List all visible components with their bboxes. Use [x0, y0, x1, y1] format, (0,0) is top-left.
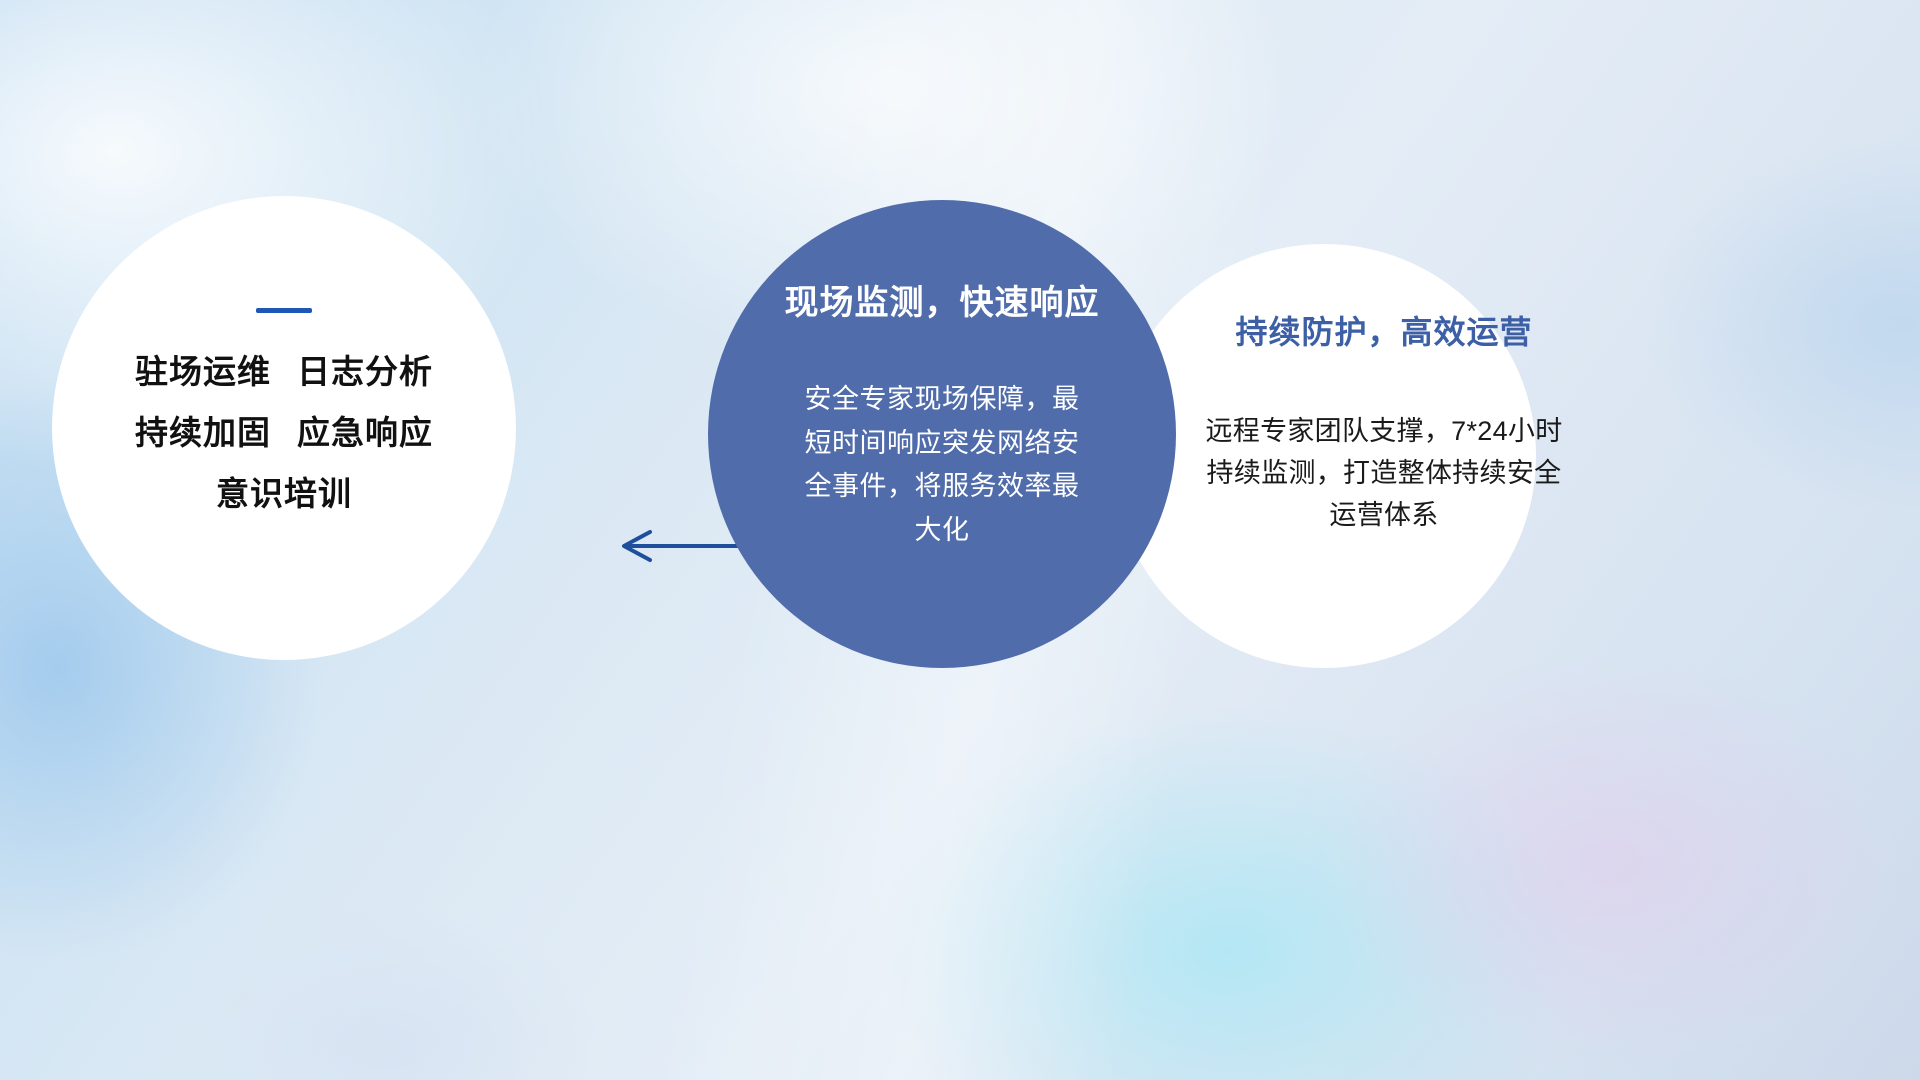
capability-row-3: 意识培训: [216, 477, 352, 510]
capability-label: 日志分析: [297, 353, 433, 390]
onsite-monitoring-circle[interactable]: 现场监测，快速响应 安全专家现场保障，最短时间响应突发网络安全事件，将服务效率最…: [708, 200, 1176, 668]
middle-circle-body: 安全专家现场保障，最短时间响应突发网络安全事件，将服务效率最大化: [792, 378, 1092, 553]
capability-label: 意识培训: [216, 475, 352, 512]
capabilities-circle[interactable]: 驻场运维日志分析 持续加固应急响应 意识培训: [52, 196, 516, 660]
divider-rule: [256, 308, 312, 313]
middle-circle-heading: 现场监测，快速响应: [785, 286, 1100, 320]
slide-canvas: 驻场运维日志分析 持续加固应急响应 意识培训 持续防护，高效运营 远程专家团队支…: [0, 0, 1920, 1080]
capability-row-1: 驻场运维日志分析: [135, 355, 433, 388]
right-circle-body: 远程专家团队支撑，7*24小时持续监测，打造整体持续安全运营体系: [1194, 410, 1574, 536]
right-circle-heading: 持续防护，高效运营: [1235, 316, 1532, 348]
capability-label: 驻场运维: [135, 353, 271, 390]
capability-row-2: 持续加固应急响应: [135, 416, 433, 449]
continuous-protection-circle[interactable]: 持续防护，高效运营 远程专家团队支撑，7*24小时持续监测，打造整体持续安全运营…: [1112, 244, 1536, 668]
capability-label: 持续加固: [135, 414, 271, 451]
capability-label: 应急响应: [297, 414, 433, 451]
